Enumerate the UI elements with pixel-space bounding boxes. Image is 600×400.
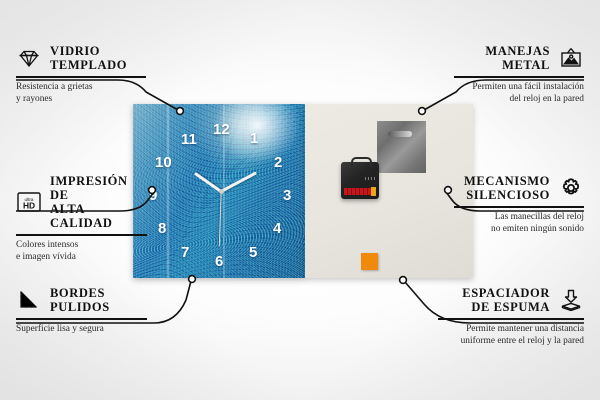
clock-number-1: 1 [250,131,258,146]
feature-description: Permiten una fácil instalación del reloj… [454,81,584,105]
feature-impresion-alta-calidad[interactable]: ultra HD IMPRESIÓN DE ALTA CALIDAD Color… [16,174,147,263]
clock-number-6: 6 [215,254,223,269]
clock-number-9: 9 [149,188,157,203]
polished-edge-icon [16,288,42,312]
feature-divider [16,234,147,236]
foam-spacer-icon [558,288,584,312]
gear-icon [558,176,584,200]
feature-title: MECANISMO SILENCIOSO [464,174,550,202]
feature-espaciador-espuma[interactable]: ESPACIADOR DE ESPUMA Permite mantener un… [438,286,584,347]
clock-front-face: 12 1 2 3 4 5 6 7 8 9 10 11 [133,104,305,278]
clock-number-4: 4 [273,221,281,236]
metal-hanger-plate [377,121,426,173]
mechanism-label [365,177,375,180]
feature-vidrio-templado[interactable]: VIDRIO TEMPLADO Resistencia a grietas y … [16,44,146,105]
feature-description: Superficie lisa y segura [16,323,147,335]
feature-description: Las manecillas del reloj no emiten ningú… [454,211,584,235]
diamond-icon [16,46,42,70]
feature-divider [438,318,584,320]
feature-mecanismo-silencioso[interactable]: MECANISMO SILENCIOSO Las manecillas del … [454,174,584,235]
picture-frame-icon [558,46,584,70]
clock-number-3: 3 [283,188,291,203]
clock-movement-mechanism [341,162,379,199]
feature-description: Resistencia a grietas y rayones [16,81,146,105]
feature-divider [454,206,584,208]
product-photo: 12 1 2 3 4 5 6 7 8 9 10 11 [133,104,473,278]
mechanism-yellow-tab [371,187,376,196]
feature-divider [16,76,146,78]
feature-description: Permite mantener una distancia uniforme … [438,323,584,347]
clock-number-5: 5 [249,245,257,260]
clock-number-7: 7 [181,245,189,260]
svg-text:HD: HD [23,201,35,211]
foam-spacer-pad [361,253,378,270]
feature-title: IMPRESIÓN DE ALTA CALIDAD [50,174,147,230]
hanger-slot [388,131,412,137]
feature-title: BORDES PULIDOS [50,286,110,314]
mechanism-hook [351,157,372,167]
feature-divider [454,76,584,78]
feature-description: Colores intensos e imagen vívida [16,239,147,263]
clock-number-11: 11 [181,132,197,147]
feature-divider [16,318,147,320]
feature-title: VIDRIO TEMPLADO [50,44,127,72]
feature-bordes-pulidos[interactable]: BORDES PULIDOS Superficie lisa y segura [16,286,147,335]
feature-title: ESPACIADOR DE ESPUMA [462,286,550,314]
feature-title: MANEJAS METAL [485,44,550,72]
clock-center-hub [219,189,224,194]
clock-number-12: 12 [213,122,230,137]
feature-manejas-metal[interactable]: MANEJAS METAL Permiten una fácil instala… [454,44,584,105]
clock-back-panel [305,104,473,278]
clock-number-8: 8 [158,221,166,236]
clock-number-2: 2 [274,155,282,170]
infographic-canvas: 12 1 2 3 4 5 6 7 8 9 10 11 [0,0,600,400]
ultra-hd-icon: ultra HD [16,190,42,214]
clock-number-10: 10 [155,155,172,170]
